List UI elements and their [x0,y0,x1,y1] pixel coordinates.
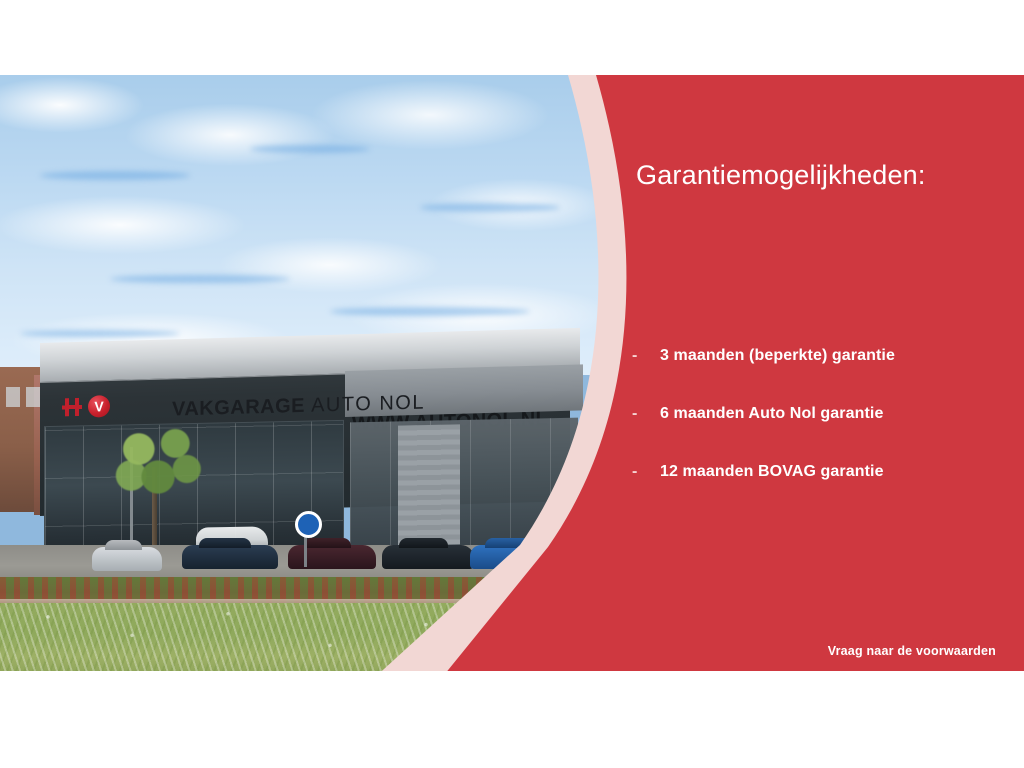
bovag-logo-icon [62,398,82,417]
warranty-options-list: - 3 maanden (beperkte) garantie - 6 maan… [632,347,1012,521]
tree-canopy [110,421,206,501]
vakgarage-logo-group [62,392,162,421]
parked-car [470,545,556,569]
cladding-strip [398,424,460,545]
bullet-label: 3 maanden (beperkte) garantie [660,347,895,365]
bullet-label: 6 maanden Auto Nol garantie [660,405,883,423]
cloud-streak [250,145,370,153]
window [6,387,20,407]
cloud-streak [40,171,190,180]
page-title: Garantiemogelijkheden: [636,160,926,191]
glass-curtain-wall-right [350,418,578,558]
slide-stage: VAKGARAGE AUTO NOL WWW.AUTONOL.NL [0,0,1024,768]
traffic-sign-post [304,527,307,567]
cloud-streak [420,203,560,212]
cloud-streak [20,330,180,337]
parked-car [92,547,162,571]
cloud-streak [110,275,290,283]
list-item: - 6 maanden Auto Nol garantie [632,405,1012,423]
list-item: - 3 maanden (beperkte) garantie [632,347,1012,365]
sign-brand: VAKGARAGE [172,395,305,421]
dealership-photo: VAKGARAGE AUTO NOL WWW.AUTONOL.NL [0,75,600,680]
bullet-marker: - [632,463,660,481]
parked-car [382,545,474,569]
parked-car [182,545,278,569]
window [26,387,40,407]
bullet-marker: - [632,347,660,365]
parked-car [288,545,376,569]
slide-canvas: VAKGARAGE AUTO NOL WWW.AUTONOL.NL [0,75,1024,680]
bullet-marker: - [632,405,660,423]
bullet-label: 12 maanden BOVAG garantie [660,463,884,481]
vakgarage-v-icon [88,395,110,418]
wildflower-meadow [0,603,600,680]
list-item: - 12 maanden BOVAG garantie [632,463,1012,481]
cloud-streak [330,307,530,316]
panel-content: Garantiemogelijkheden: - 3 maanden (bepe… [596,75,1024,680]
footer-note: Vraag naar de voorwaarden [828,644,996,658]
